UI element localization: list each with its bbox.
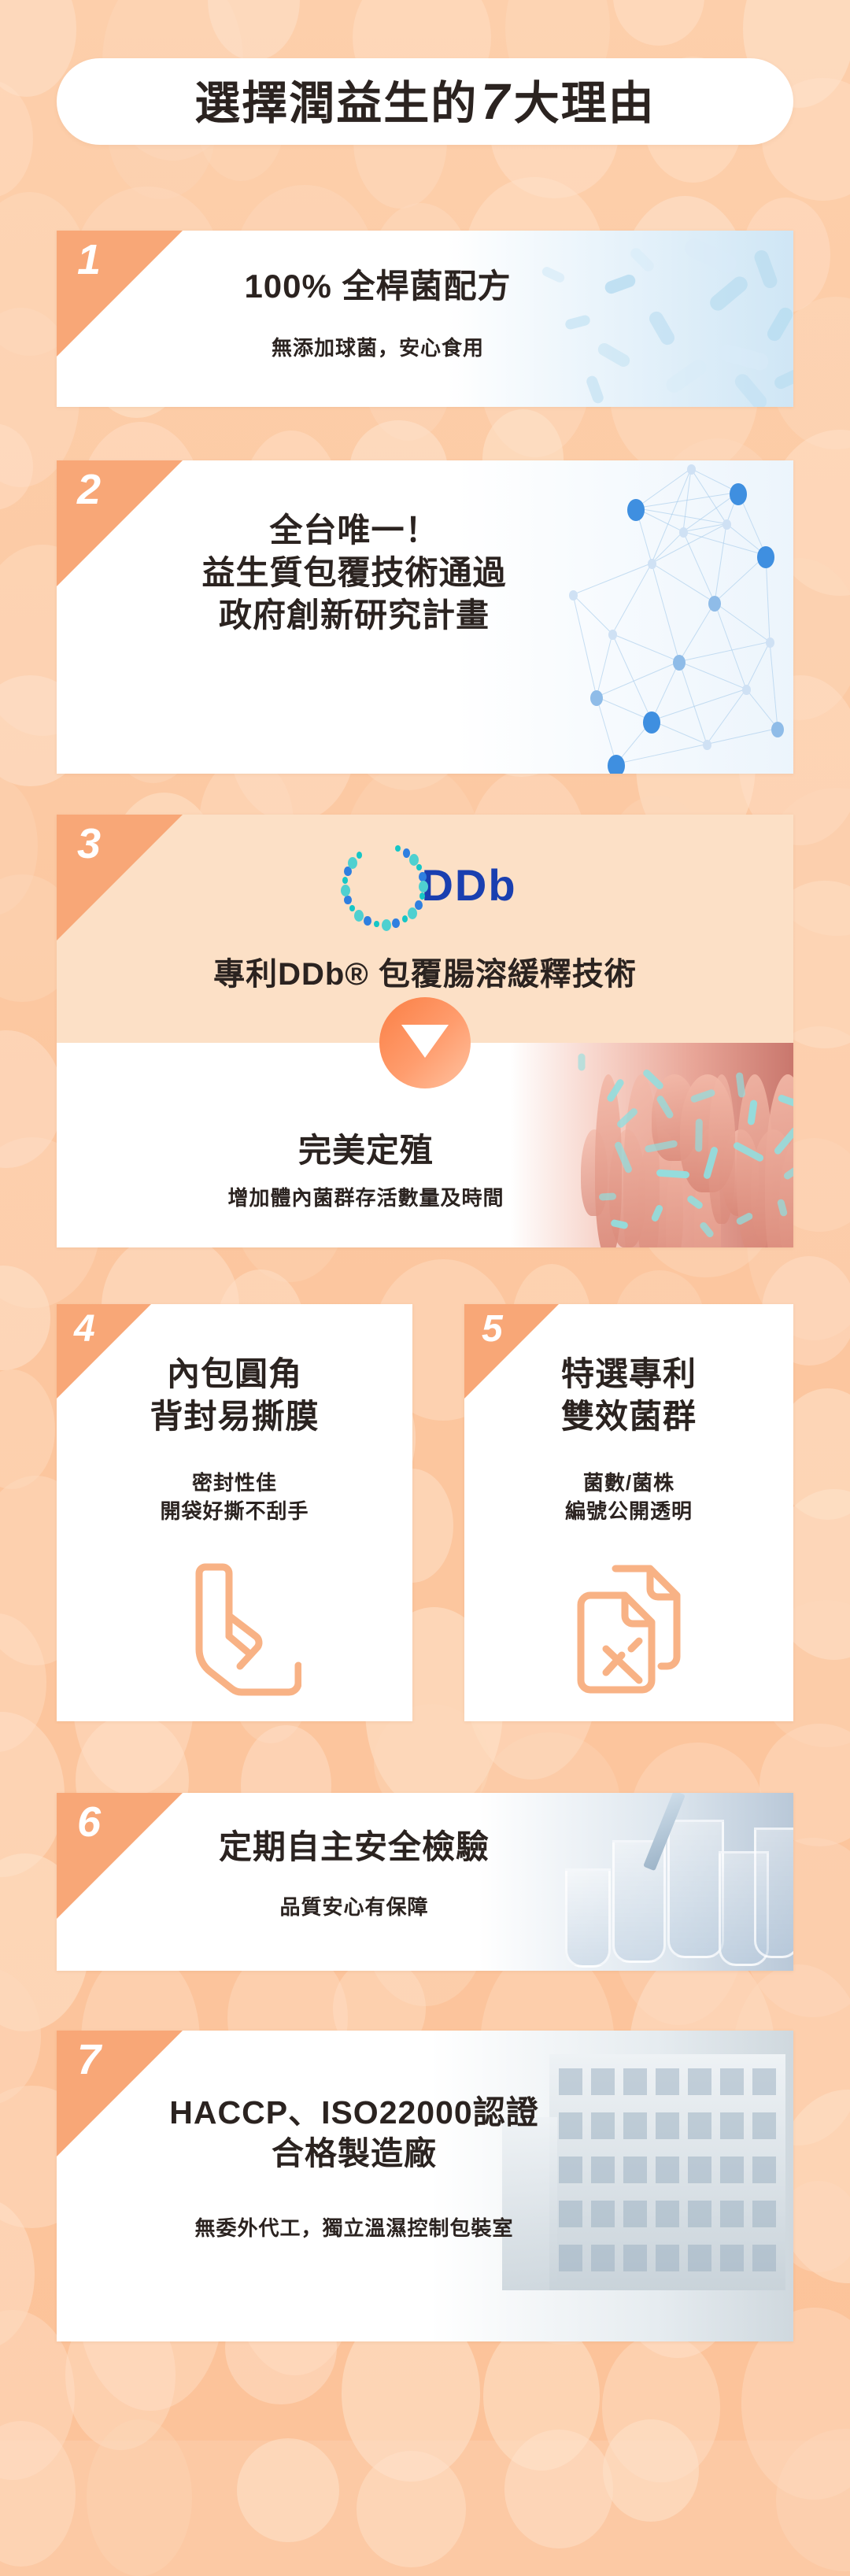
down-arrow-icon: [401, 1025, 449, 1058]
page-title-prefix: 選擇潤益生的: [194, 78, 478, 129]
page-title: 選擇潤益生的7大理由: [194, 76, 656, 127]
hand-tearing-icon: [57, 1556, 412, 1706]
ddb-logo: DDb: [57, 833, 793, 936]
reason-card-7[interactable]: 7 HACCP、ISO22000認證 合格製造廠 無委外代工，獨立溫濕控制包裝室: [57, 2031, 793, 2341]
card-5-subtitle-line-1: 菌數/菌株: [464, 1469, 793, 1498]
reason-card-6[interactable]: 6 定期自主安全檢驗 品質安心有保障: [57, 1793, 793, 1971]
card-1-subtitle: 無添加球菌，安心食用: [57, 334, 793, 363]
card-4-subtitle-line-1: 密封性佳: [57, 1469, 412, 1498]
documents-icon: [464, 1561, 793, 1698]
card-7-title-line-1: HACCP、ISO22000認證: [57, 2092, 793, 2133]
card-3-title: 專利DDb® 包覆腸溶緩釋技術: [57, 955, 793, 995]
card-6-subtitle: 品質安心有保障: [57, 1894, 793, 1922]
card-1-number: 1: [77, 237, 100, 283]
card-1-title: 100% 全桿菌配方: [57, 265, 793, 308]
promo-page: 選擇潤益生的7大理由 1 100% 全桿菌配方 無添加球菌，安心食用 2 全台唯…: [0, 0, 850, 2441]
card-4-title-line-2: 背封易撕膜: [57, 1395, 412, 1438]
card-7-number: 7: [77, 2037, 100, 2083]
card-6-number: 6: [77, 1799, 100, 1846]
card-2-title-line-2: 益生質包覆技術通過: [57, 552, 793, 594]
bacilli-photo: [447, 231, 793, 407]
factory-building-photo: [431, 2031, 793, 2341]
card-5-title-line-1: 特選專利: [464, 1353, 793, 1395]
page-title-pill: 選擇潤益生的7大理由: [57, 58, 793, 145]
card-3-lower-title: 完美定殖: [57, 1129, 793, 1172]
card-4-title-line-1: 內包圓角: [57, 1353, 412, 1395]
card-5-subtitle-line-2: 編號公開透明: [464, 1498, 793, 1526]
reason-card-4[interactable]: 4 內包圓角 背封易撕膜 密封性佳 開袋好撕不刮手: [57, 1304, 412, 1721]
reason-card-3[interactable]: 3 DDb 專利DDb® 包覆腸溶緩釋技術 完美定殖 增加體內菌群存活數量及時間: [57, 815, 793, 1247]
lab-tubes-photo: [479, 1793, 793, 1971]
reason-card-2[interactable]: 2 全台唯一！ 益生質包覆技術通過 政府創新研究計畫: [57, 460, 793, 774]
card-5-number: 5: [482, 1309, 502, 1351]
ddb-dots-icon: [333, 833, 435, 936]
down-arrow-badge: [379, 997, 471, 1088]
card-4-subtitle-line-2: 開袋好撕不刮手: [57, 1498, 412, 1526]
ddb-wordmark: DDb: [421, 859, 516, 911]
card-3-lower-subtitle: 增加體內菌群存活數量及時間: [57, 1185, 793, 1213]
card-6-title: 定期自主安全檢驗: [57, 1826, 793, 1868]
card-5-title-line-2: 雙效菌群: [464, 1395, 793, 1438]
reason-card-1[interactable]: 1 100% 全桿菌配方 無添加球菌，安心食用: [57, 231, 793, 407]
reason-card-5[interactable]: 5 特選專利 雙效菌群 菌數/菌株 編號公開透明: [464, 1304, 793, 1721]
card-2-number: 2: [77, 467, 100, 513]
page-title-number: 7: [478, 73, 514, 130]
card-7-subtitle: 無委外代工，獨立溫濕控制包裝室: [57, 2215, 793, 2243]
page-title-suffix: 大理由: [514, 78, 656, 129]
card-2-title-line-3: 政府創新研究計畫: [57, 594, 793, 637]
card-7-title-line-2: 合格製造廠: [57, 2133, 793, 2174]
card-2-title-line-1: 全台唯一！: [57, 509, 793, 552]
card-4-number: 4: [74, 1309, 94, 1351]
